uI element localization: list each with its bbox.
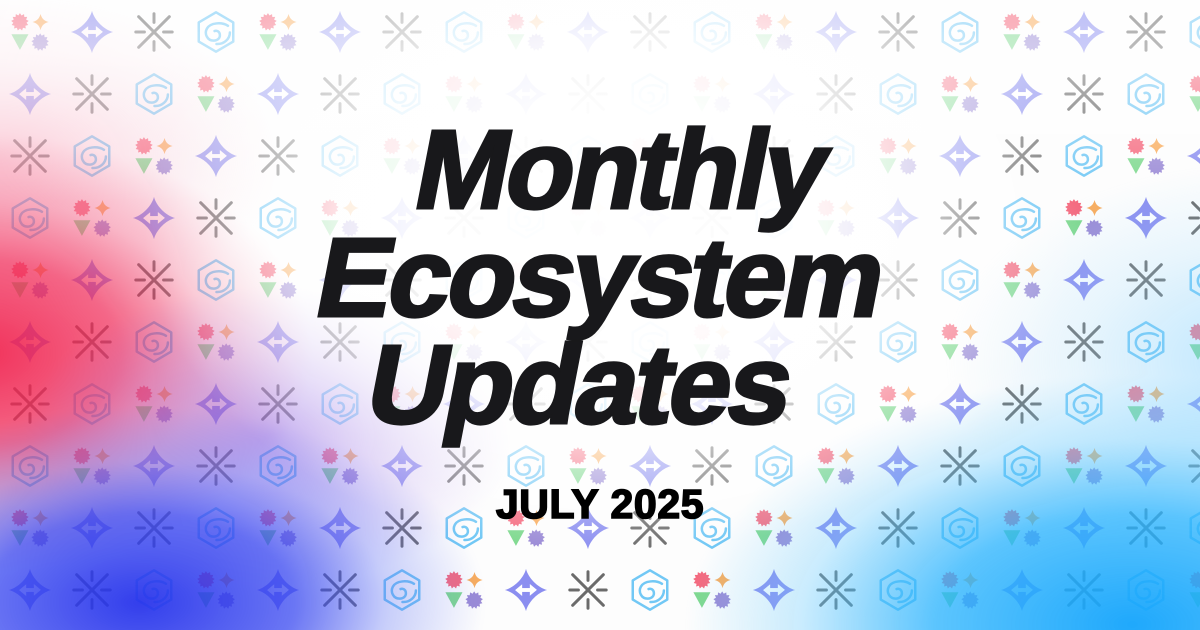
issue-date-label: JULY 2025 xyxy=(496,481,704,528)
title-line-2: Ecosystem xyxy=(308,224,892,332)
ecosystem-updates-banner: Monthly Ecosystem Updates JULY 2025 xyxy=(0,0,1200,630)
page-title: Monthly Ecosystem Updates xyxy=(287,116,912,439)
title-line-1: Monthly xyxy=(329,116,913,224)
banner-content: Monthly Ecosystem Updates JULY 2025 xyxy=(0,0,1200,630)
title-line-3: Updates xyxy=(287,331,871,439)
